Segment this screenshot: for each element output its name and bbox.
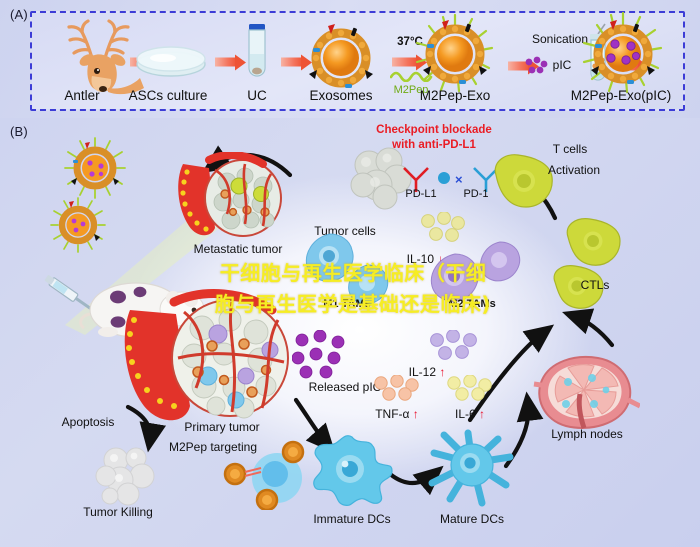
apoptotic-tumor-cell [88, 440, 166, 512]
tnf-alpha-name: TNF-α [375, 407, 409, 421]
watermark-line-1: 干细胞与再生医学临床（干细 [178, 258, 528, 289]
panel-a-label-pic: pIC [553, 58, 572, 72]
il-10-cytokine-dots [418, 212, 468, 246]
watermark-line-2: 胞与再生医学是基础还是临床) [178, 289, 528, 320]
label-checkpoint-blockade-line1: Checkpoint blockade [376, 124, 492, 136]
immature-dc-cell [306, 431, 398, 509]
label-pd-1: PD-1 [463, 188, 488, 200]
label-tnf-alpha: TNF-α ↑ [375, 407, 419, 421]
panel-a-label-m2pep-exo: M2Pep-Exo [420, 88, 491, 103]
il-12-cytokine-dots [428, 330, 480, 362]
panel-a-label-exosomes: Exosomes [309, 88, 372, 103]
tnf-alpha-arrow: ↑ [413, 407, 419, 421]
label-activation: Activation [548, 163, 600, 177]
panel-a-tag: (A) [10, 7, 28, 22]
label-tumor-killing: Tumor Killing [83, 505, 153, 519]
il-6-name: IL-6 [455, 407, 476, 421]
panel-b-tag: (B) [10, 124, 28, 139]
label-checkpoint-blockade-line2: with anti-PD-L1 [392, 139, 476, 151]
petri-dish-icon [133, 40, 209, 80]
label-pd-l1: PD-L1 [405, 188, 436, 200]
centrifuge-tube-icon [243, 24, 271, 84]
label-il-6: IL-6 ↑ [455, 407, 485, 421]
panel-a: (A) [0, 0, 700, 118]
released-pic-particles [292, 330, 356, 380]
lymph-nodes-illustration [528, 350, 640, 434]
label-metastatic-tumor: Metastatic tumor [194, 242, 283, 256]
watermark-overlay: 干细胞与再生医学临床（干细 胞与再生医学是基础还是临床) [178, 258, 528, 320]
t-cell-illustration [486, 151, 558, 213]
label-released-pic: Released pIC [309, 380, 382, 394]
panel-a-label-m2pep-exo-pic: M2Pep-Exo(pIC) [571, 88, 672, 103]
arrow-uc-to-exosomes [281, 58, 303, 67]
m2pep-exosome-particle [412, 12, 498, 98]
mature-dc-cell [424, 427, 520, 509]
m2pep-exosome-pic-particle [578, 10, 668, 100]
metastatic-tumor-illustration [175, 152, 293, 244]
label-mature-dcs: Mature DCs [440, 512, 504, 526]
exosome-nanoparticle-2 [49, 196, 107, 254]
label-ctls: CTLs [581, 278, 610, 292]
pic-molecule-icon [524, 56, 550, 76]
panel-a-label-uc: UC [247, 88, 267, 103]
exosome-nanoparticle-1 [63, 136, 127, 200]
il-6-arrow: ↑ [479, 407, 485, 421]
exosome-particle [305, 22, 377, 94]
label-immature-dcs: Immature DCs [313, 512, 390, 526]
label-apoptosis: Apoptosis [62, 415, 115, 429]
scientific-figure: (A) [0, 0, 700, 547]
label-t-cells: T cells [553, 142, 587, 156]
label-primary-tumor: Primary tumor [184, 420, 259, 434]
label-lymph-nodes: Lymph nodes [551, 427, 623, 441]
arrow-culture-to-uc [215, 58, 237, 67]
il-6-cytokine-dots [445, 375, 495, 401]
panel-a-label-antler: Antler [64, 88, 99, 103]
panel-a-label-ascs-culture: ASCs culture [129, 88, 208, 103]
svg-text:×: × [455, 172, 463, 187]
m2pep-targeting-illustration [205, 438, 315, 510]
tnf-alpha-cytokine-dots [372, 375, 422, 401]
